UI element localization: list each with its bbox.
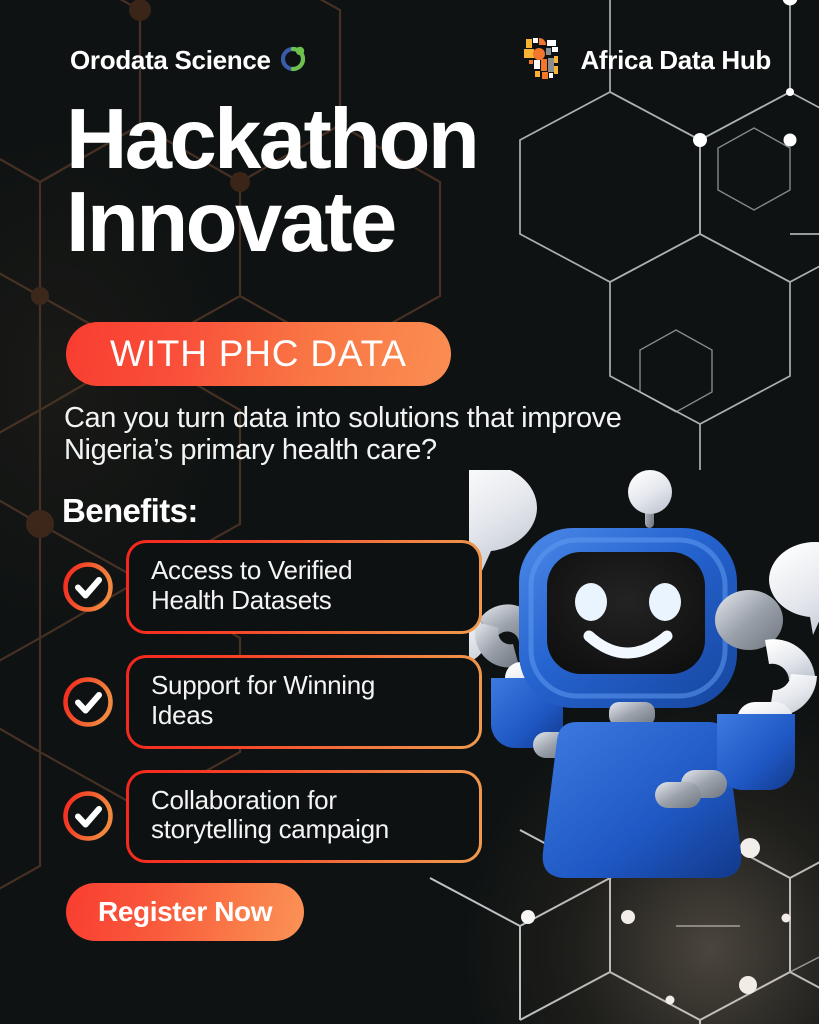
badge-label: WITH PHC DATA (110, 333, 407, 375)
benefit-box: Access to Verified Health Datasets (126, 540, 482, 634)
benefit-item-1: Access to Verified Health Datasets (62, 540, 482, 634)
check-icon (62, 676, 114, 728)
benefits-list: Access to Verified Health Datasets (62, 540, 482, 884)
benefits-heading: Benefits: (62, 492, 198, 530)
benefit-item-2: Support for Winning Ideas (62, 655, 482, 749)
register-now-label: Register Now (98, 896, 272, 928)
header: Orodata Science (0, 34, 819, 86)
headline-line-2: Innovate (66, 181, 666, 264)
check-icon (62, 561, 114, 613)
africa-mosaic-icon (513, 30, 569, 91)
brand-africa-data-hub: Africa Data Hub (513, 30, 771, 91)
blue-robot-mascot (469, 470, 819, 900)
africa-data-hub-wordmark: Africa Data Hub (580, 45, 771, 76)
benefit-label: Collaboration for storytelling campaign (151, 786, 459, 846)
headline-line-1: Hackathon (66, 98, 666, 181)
benefit-label: Access to Verified Health Datasets (151, 556, 459, 616)
benefit-box-inner: Support for Winning Ideas (129, 658, 479, 746)
benefit-box: Collaboration for storytelling campaign (126, 770, 482, 864)
benefit-box-inner: Access to Verified Health Datasets (129, 543, 479, 631)
orodata-ring-icon (278, 43, 308, 78)
phc-data-badge: WITH PHC DATA (66, 322, 451, 386)
check-icon (62, 790, 114, 842)
benefit-label: Support for Winning Ideas (151, 671, 459, 731)
benefit-box: Support for Winning Ideas (126, 655, 482, 749)
subtitle: Can you turn data into solutions that im… (64, 402, 704, 467)
hackathon-poster: Orodata Science (0, 0, 819, 1024)
benefit-box-inner: Collaboration for storytelling campaign (129, 773, 479, 861)
page-title: Hackathon Innovate (66, 98, 666, 265)
brand-orodata: Orodata Science (70, 43, 308, 78)
orodata-wordmark: Orodata Science (70, 45, 271, 76)
benefit-item-3: Collaboration for storytelling campaign (62, 770, 482, 864)
register-now-button[interactable]: Register Now (66, 883, 304, 941)
